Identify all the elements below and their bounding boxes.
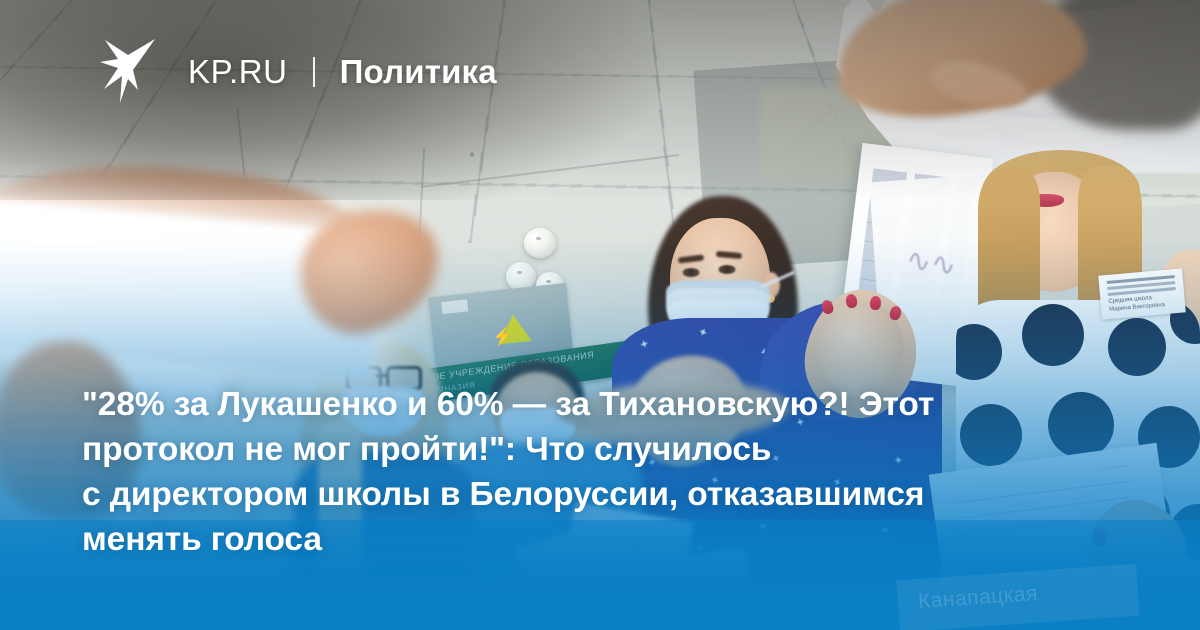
- lightning-bolt-icon: ⚡: [491, 327, 514, 346]
- article-headline[interactable]: "28% за Лукашенко и 60% — за Тихановскую…: [82, 382, 1092, 562]
- brand-name[interactable]: KP.RU: [188, 53, 288, 91]
- share-card: ⚡ ВЕННОЕ УЧРЕЖДЕНИЕ ОБРАЗОВАНИЯ ГИМНАЗИЯ…: [0, 0, 1200, 630]
- headline-line: "28% за Лукашенко и 60% — за Тихановскую…: [82, 382, 1092, 427]
- section-rubric[interactable]: Политика: [340, 53, 497, 91]
- swallow-bird-logo-icon[interactable]: [98, 37, 156, 103]
- header-divider: [313, 57, 315, 87]
- card-header: KP.RU Политика: [0, 0, 1200, 140]
- headline-line: с директором школы в Белоруссии, отказав…: [82, 472, 1092, 517]
- brand-block: KP.RU Политика: [188, 53, 497, 91]
- headline-line: менять голоса: [82, 517, 1092, 562]
- headline-line: протокол не мог пройти!": Что случилось: [82, 427, 1092, 472]
